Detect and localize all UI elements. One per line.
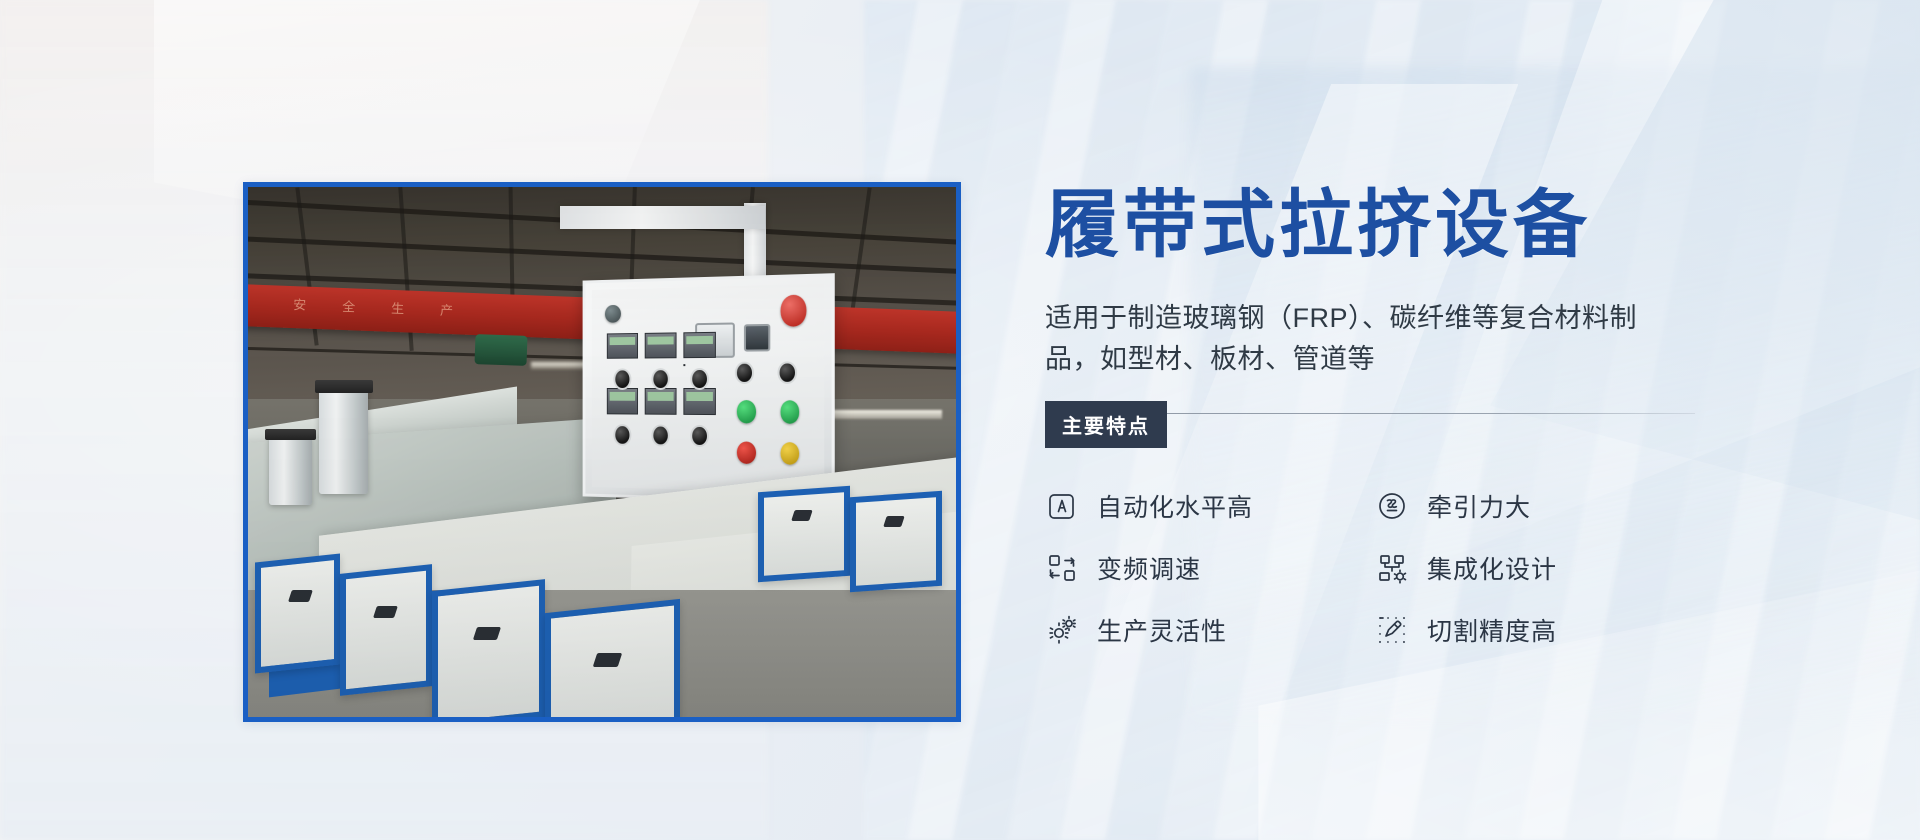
feature-label: 生产灵活性 — [1097, 612, 1227, 648]
feature-label: 牵引力大 — [1427, 488, 1531, 524]
product-banner: 安全生产 — [0, 0, 1920, 840]
precision-icon — [1375, 613, 1409, 647]
feature-item-integration[interactable]: 集成化设计 — [1375, 550, 1705, 586]
product-photo-card: 安全生产 — [243, 182, 961, 722]
integration-icon — [1375, 551, 1409, 585]
product-photo: 安全生产 — [248, 187, 956, 717]
feature-label: 自动化水平高 — [1097, 488, 1253, 524]
product-subtitle: 适用于制造玻璃钢（FRP）、碳纤维等复合材料制品，如型材、板材、管道等 — [1045, 298, 1645, 380]
gears-icon — [1045, 613, 1079, 647]
photo-shading-overlay — [248, 187, 956, 717]
automation-icon — [1045, 489, 1079, 523]
frequency-icon — [1045, 551, 1079, 585]
feature-item-flexibility[interactable]: 生产灵活性 — [1045, 612, 1375, 648]
feature-item-automation[interactable]: 自动化水平高 — [1045, 488, 1375, 524]
feature-label: 切割精度高 — [1427, 612, 1557, 648]
status-badge: 主要特点 — [1045, 401, 1167, 448]
section-divider-wrap: 主要特点 — [1045, 401, 1695, 445]
traction-icon — [1375, 489, 1409, 523]
feature-list: 自动化水平高 牵引力大 — [1045, 475, 1695, 661]
banner-content: 履带式拉挤设备 适用于制造玻璃钢（FRP）、碳纤维等复合材料制品，如型材、板材、… — [1045, 186, 1695, 661]
feature-label: 变频调速 — [1097, 550, 1201, 586]
page-title: 履带式拉挤设备 — [1045, 186, 1695, 264]
feature-item-traction[interactable]: 牵引力大 — [1375, 488, 1705, 524]
feature-item-precision[interactable]: 切割精度高 — [1375, 612, 1705, 648]
feature-item-frequency[interactable]: 变频调速 — [1045, 550, 1375, 586]
feature-label: 集成化设计 — [1427, 550, 1557, 586]
